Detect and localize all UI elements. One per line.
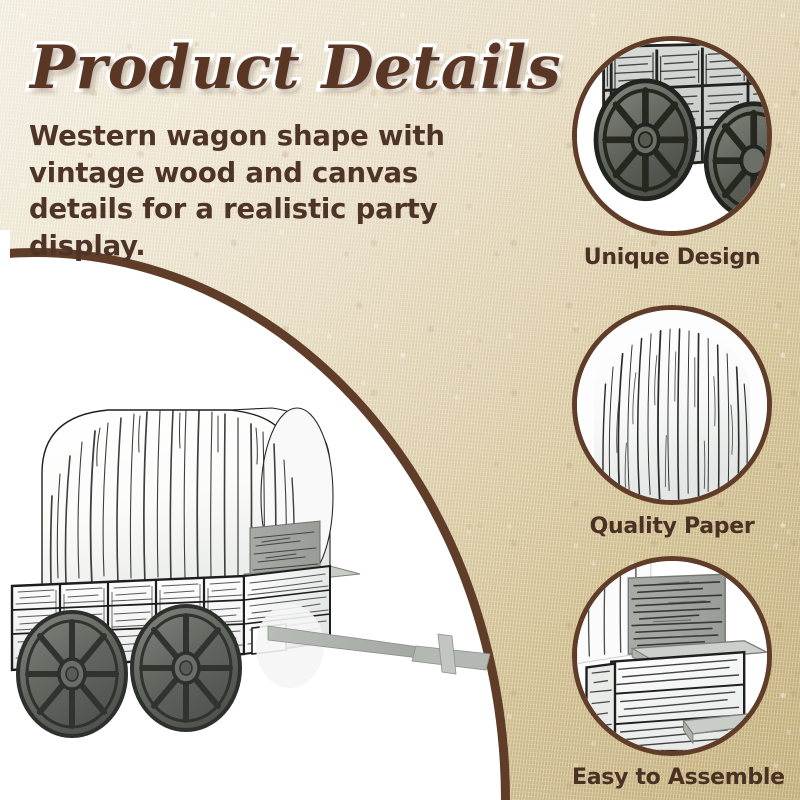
feature-image-unique-design	[572, 36, 772, 236]
feature-caption-easy-to-assemble: Easy to Assemble	[572, 765, 772, 790]
feature-caption-unique-design: Unique Design	[572, 245, 772, 270]
feature-caption-quality-paper: Quality Paper	[572, 514, 772, 539]
wagon-wheel-front	[132, 606, 240, 730]
product-details-infographic: Product Details Western wagon shape with…	[0, 0, 800, 800]
feature-image-quality-paper	[572, 305, 772, 505]
wagon-front-face	[244, 566, 330, 688]
wagon-wheel-rear	[18, 612, 126, 736]
hero-product-image	[0, 378, 520, 738]
feature-quality-paper: Quality Paper	[572, 305, 772, 539]
page-title: Product Details	[30, 38, 561, 98]
feature-image-easy-to-assemble	[572, 556, 772, 756]
feature-unique-design: Unique Design	[572, 36, 772, 270]
feature-easy-to-assemble: Easy to Assemble	[572, 556, 772, 790]
page-description: Western wagon shape with vintage wood an…	[29, 118, 529, 264]
